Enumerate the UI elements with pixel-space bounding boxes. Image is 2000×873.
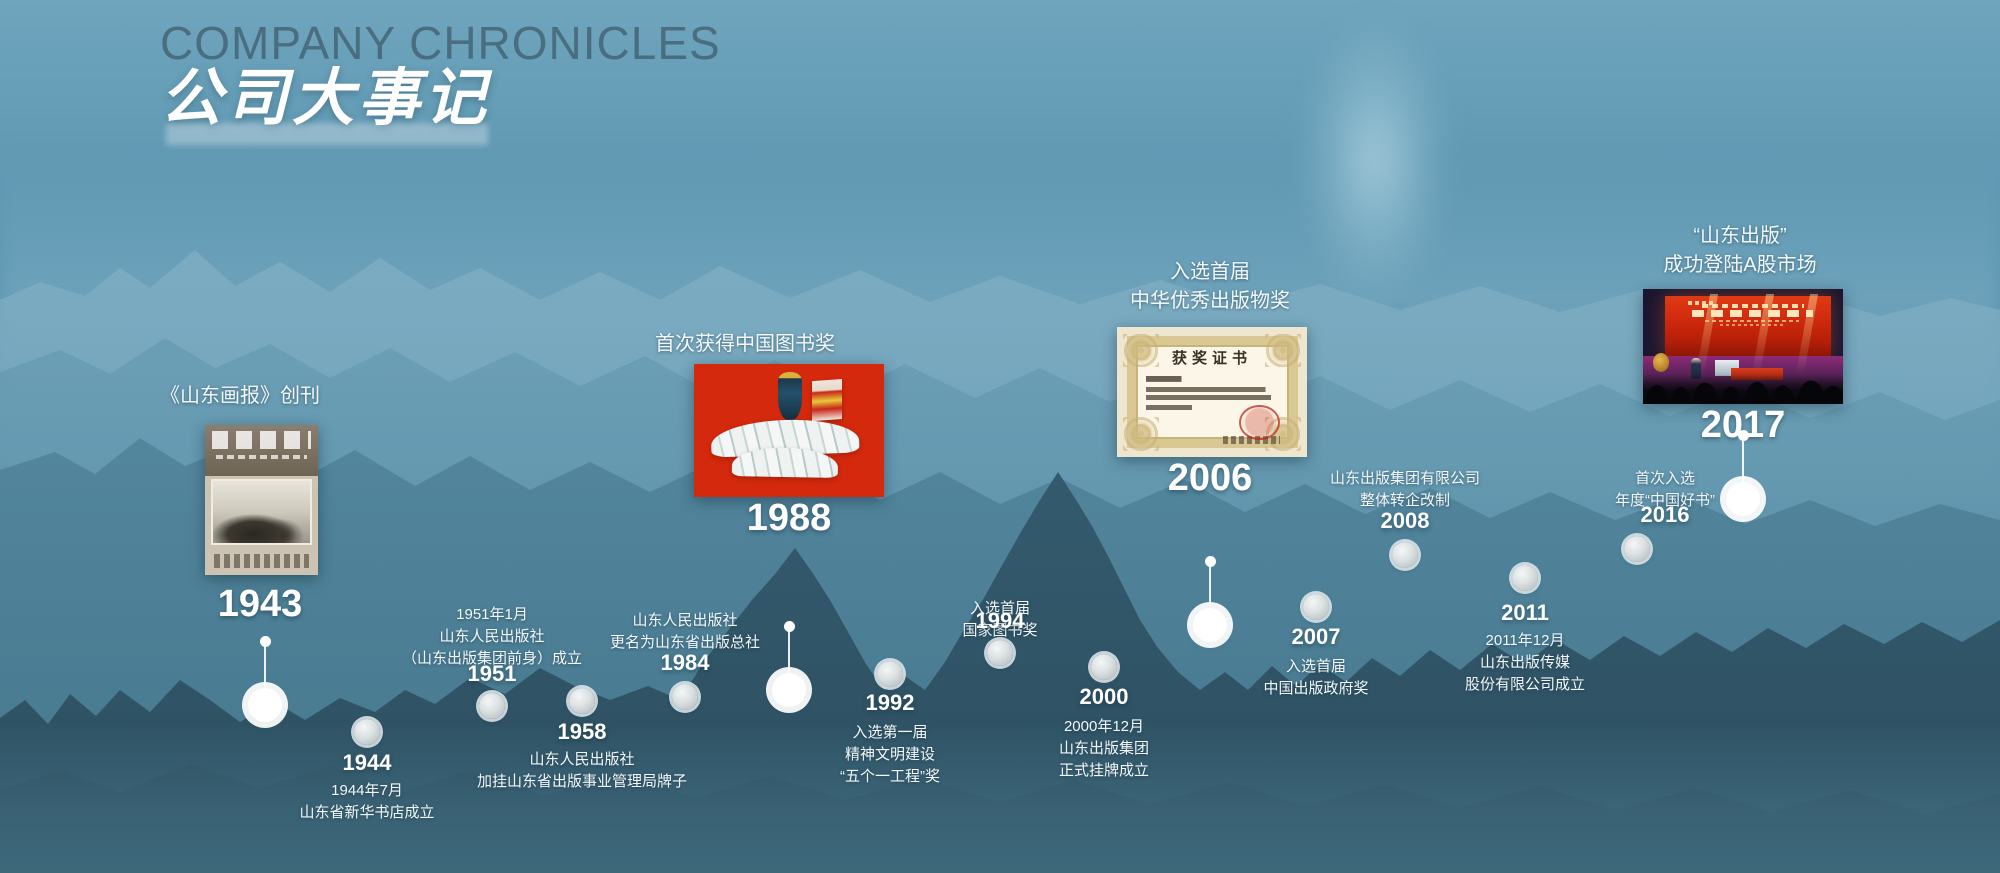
node-disc: [772, 673, 806, 707]
detail-line: “五个一工程”奖: [810, 766, 970, 788]
event-2017-node[interactable]: [1726, 434, 1760, 526]
detail-line: 1944年7月: [267, 780, 467, 802]
event-2011-year: 2011: [1445, 600, 1605, 626]
detail-line: 山东人民出版社: [462, 749, 702, 771]
detail-line: 山东省新华书店成立: [267, 802, 467, 824]
detail-line: 2000年12月: [1024, 716, 1184, 738]
certificate-title: 获奖证书: [1117, 347, 1307, 368]
event-2016-year: 2016: [1585, 502, 1745, 528]
event-2006-caption: 入选首届 中华优秀出版物奖: [1060, 258, 1360, 316]
event-1958-node[interactable]: [569, 688, 595, 714]
timeline-poster: COMPANY CHRONICLES 公司大事记 《山东画报》创刊 1943 1…: [0, 0, 2000, 873]
detail-line: 山东出版集团: [1024, 738, 1184, 760]
node-disc: [248, 688, 282, 722]
poster-header: COMPANY CHRONICLES 公司大事记: [160, 18, 721, 137]
audience-silhouettes: [1643, 374, 1843, 404]
event-1943-year: 1943: [155, 583, 365, 626]
event-1992-detail: 入选第一届 精神文明建设 “五个一工程”奖: [810, 722, 970, 787]
event-1943-caption: 《山东画报》创刊: [110, 382, 370, 411]
detail-line: 加挂山东省出版事业管理局牌子: [462, 771, 702, 793]
event-2016-node[interactable]: [1624, 536, 1650, 562]
event-2007-node[interactable]: [1303, 594, 1329, 620]
event-1992-year: 1992: [810, 690, 970, 716]
event-1994-node[interactable]: [987, 640, 1013, 666]
event-2006-photo[interactable]: 获奖证书: [1117, 327, 1307, 457]
event-2006-node[interactable]: [1193, 560, 1227, 652]
caption-line: 中华优秀出版物奖: [1060, 287, 1360, 316]
node-stem: [1209, 560, 1211, 614]
detail-line: 中国出版政府奖: [1226, 678, 1406, 700]
event-1951-node[interactable]: [479, 693, 505, 719]
event-2007-detail: 入选首届 中国出版政府奖: [1226, 656, 1406, 700]
title-underbar: [166, 123, 488, 145]
caption-line: 入选首届: [1060, 258, 1360, 287]
event-1958-year: 1958: [502, 719, 662, 745]
event-2000-detail: 2000年12月 山东出版集团 正式挂牌成立: [1024, 716, 1184, 781]
detail-line: 股份有限公司成立: [1425, 674, 1625, 696]
event-2017-photo[interactable]: [1643, 289, 1843, 404]
event-1984-year: 1984: [605, 650, 765, 676]
event-2011-node[interactable]: [1512, 565, 1538, 591]
event-1944-detail: 1944年7月 山东省新华书店成立: [267, 780, 467, 824]
banner-line-3: [1705, 320, 1800, 322]
detail-line: 正式挂牌成立: [1024, 760, 1184, 782]
event-1988-node[interactable]: [772, 625, 806, 717]
event-2008-year: 2008: [1325, 508, 1485, 534]
detail-line: 入选第一届: [810, 722, 970, 744]
detail-line: 山东出版集团有限公司: [1255, 468, 1555, 490]
event-2008-node[interactable]: [1392, 542, 1418, 568]
event-1951-year: 1951: [412, 661, 572, 687]
caption-line: “山东出版”: [1570, 222, 1910, 251]
event-1988-caption: 首次获得中国图书奖: [575, 330, 915, 359]
event-1943-node[interactable]: [248, 640, 282, 732]
gift-box-object: [812, 379, 842, 421]
detail-line: 山东出版传媒: [1425, 652, 1625, 674]
event-2000-node[interactable]: [1091, 654, 1117, 680]
node-stem: [788, 625, 790, 679]
event-2007-year: 2007: [1236, 624, 1396, 650]
event-2017-caption: “山东出版” 成功登陆A股市场: [1570, 222, 1910, 280]
vase-object: [778, 372, 803, 420]
event-1988-year: 1988: [689, 497, 889, 540]
event-1988-photo[interactable]: [694, 364, 884, 497]
node-stem: [264, 640, 266, 694]
detail-line: 入选首届: [1226, 656, 1406, 678]
event-1992-node[interactable]: [877, 661, 903, 687]
certificate-red-seal: [1239, 405, 1281, 440]
detail-line: 2011年12月: [1425, 630, 1625, 652]
event-1994-year: 1994: [920, 608, 1080, 634]
event-1958-detail: 山东人民出版社 加挂山东省出版事业管理局牌子: [462, 749, 702, 793]
event-1944-node[interactable]: [354, 719, 380, 745]
event-2008-detail: 山东出版集团有限公司 整体转企改制: [1255, 468, 1555, 512]
cert-corner-ornament: [1123, 417, 1159, 451]
event-1984-detail: 山东人民出版社 更名为山东省出版总社: [565, 610, 805, 654]
node-disc: [1193, 608, 1227, 642]
event-1943-photo[interactable]: [205, 425, 318, 575]
detail-line: 山东人民出版社: [565, 610, 805, 632]
banner-line-1: [1702, 304, 1805, 308]
caption-line: 成功登陆A股市场: [1570, 251, 1910, 280]
detail-line: 精神文明建设: [810, 744, 970, 766]
event-1984-node[interactable]: [672, 684, 698, 710]
node-disc: [1726, 482, 1760, 516]
event-2000-year: 2000: [1024, 684, 1184, 710]
event-1944-year: 1944: [287, 750, 447, 776]
banner-line-4: [1720, 324, 1783, 326]
event-2011-detail: 2011年12月 山东出版传媒 股份有限公司成立: [1425, 630, 1625, 695]
node-stem: [1742, 434, 1744, 488]
ceremonial-gong: [1653, 353, 1669, 371]
